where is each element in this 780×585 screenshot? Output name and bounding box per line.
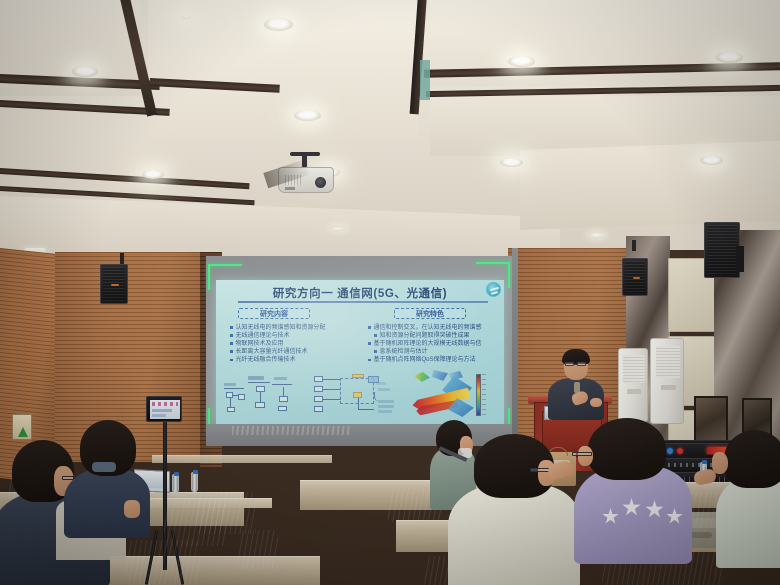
ceiling-downlight <box>330 226 346 231</box>
title-underline <box>238 301 488 303</box>
screen-corner-marker <box>208 264 210 290</box>
floor-ac-unit-left <box>618 348 648 422</box>
wall-speaker-far-right[interactable] <box>704 222 740 278</box>
bullet-cont: 知和资源分配问题取得突破性成果 <box>368 332 482 340</box>
network-topology-diagram <box>312 372 398 420</box>
speaker-badge <box>111 284 119 286</box>
screen-edge <box>512 248 518 448</box>
attendee-hair <box>724 430 780 488</box>
ceiling-downlight <box>716 52 743 63</box>
ceiling-downlight <box>700 156 723 165</box>
ceiling-downlight <box>264 18 293 31</box>
wall-speaker-left[interactable] <box>100 264 128 304</box>
bullet-item: 光纤无线融合传输技术 <box>230 356 326 364</box>
slide-title: 研究方向一 通信网(5G、光通信) <box>216 285 504 301</box>
attendee-collar <box>92 462 116 472</box>
screen-reflection <box>232 426 352 435</box>
wall-notice-sign <box>12 414 32 440</box>
water-bottle[interactable] <box>172 474 179 493</box>
ceiling-downlight <box>294 110 321 121</box>
university-emblem-icon <box>486 282 501 297</box>
screen-corner-marker <box>208 264 242 266</box>
bullet-item: 通信和控制交叉，在认知无线电的频谱感 <box>368 324 482 332</box>
attendee-face <box>578 446 593 466</box>
camera-lcd-screen <box>150 400 180 419</box>
conference-room-photo: 研究方向一 通信网(5G、光通信) 研究内容 认知无线电的频谱感知和资源分配 无… <box>0 0 780 585</box>
bullet-item: 认知无线电的频谱感知和资源分配 <box>230 324 326 332</box>
attendee-hand <box>124 500 140 518</box>
ceiling-downlight <box>588 232 605 238</box>
left-panel-bullets: 认知无线电的频谱感知和资源分配 无线通信理论与技术 物联网技术及应用 长距离大容… <box>230 324 326 364</box>
projector-mount <box>290 152 320 156</box>
attendee-hair <box>588 418 666 480</box>
ceiling-duct <box>420 60 430 100</box>
floor-ac-unit-right <box>650 338 684 424</box>
bullet-cont: 息系统检测与估计 <box>368 348 482 356</box>
eyeglasses-icon <box>572 452 592 456</box>
presentation-slide: 研究方向一 通信网(5G、光通信) 研究内容 认知无线电的频谱感知和资源分配 无… <box>216 280 504 424</box>
speaker-badge <box>633 277 640 279</box>
projector-label <box>285 187 295 190</box>
right-panel-heading: 研究特色 <box>394 308 466 319</box>
ceiling-downlight <box>508 56 535 67</box>
ceiling-downlight <box>72 66 98 77</box>
screen-corner-marker <box>476 262 510 264</box>
right-panel-bullets: 通信和控制交叉，在认知无线电的频谱感 知和资源分配问题取得突破性成果 基于随机矩… <box>368 324 482 364</box>
left-panel-heading: 研究内容 <box>238 308 310 319</box>
rack-indicator <box>667 448 673 454</box>
bullet-item: 基于随机点阵网络QoS保障理论与方法 <box>368 356 482 364</box>
wall-speaker-right[interactable] <box>622 258 648 296</box>
bullet-item: 无线通信理论与技术 <box>230 332 326 340</box>
desk-row-far <box>152 455 332 463</box>
rack-indicator <box>677 448 683 454</box>
presenter-lanyard <box>574 382 580 393</box>
ceiling-soffit <box>520 141 780 230</box>
speaker-grill <box>707 225 737 275</box>
bullet-item: 物联网技术及应用 <box>230 340 326 348</box>
ceiling-downlight <box>182 14 190 19</box>
speaker-bracket <box>736 246 744 272</box>
presenter-hand <box>590 398 602 407</box>
water-bottle[interactable] <box>191 472 198 492</box>
eyeglasses-icon <box>565 362 586 366</box>
signal-flow-diagram <box>222 374 300 418</box>
colorbar <box>476 374 481 416</box>
projection-screen: 研究方向一 通信网(5G、光通信) 研究内容 认知无线电的频谱感知和资源分配 无… <box>206 256 512 446</box>
bullet-item: 长距离大容量光纤通信技术 <box>230 348 326 356</box>
ceiling-downlight <box>500 158 523 167</box>
chair[interactable] <box>126 540 200 585</box>
screen-corner-marker <box>508 262 510 288</box>
ceiling-downlight <box>142 170 164 179</box>
attendee-center <box>448 484 580 585</box>
speaker-bracket <box>632 240 636 251</box>
bullet-item: 基于随机矩阵理论的大规模无线数据与信 <box>368 340 482 348</box>
camera-on-tripod[interactable] <box>146 396 182 422</box>
cfd-aircraft-simulation <box>408 370 484 420</box>
projector-lens <box>315 177 326 188</box>
attendee-right <box>716 476 780 568</box>
notice-icon <box>18 427 28 437</box>
